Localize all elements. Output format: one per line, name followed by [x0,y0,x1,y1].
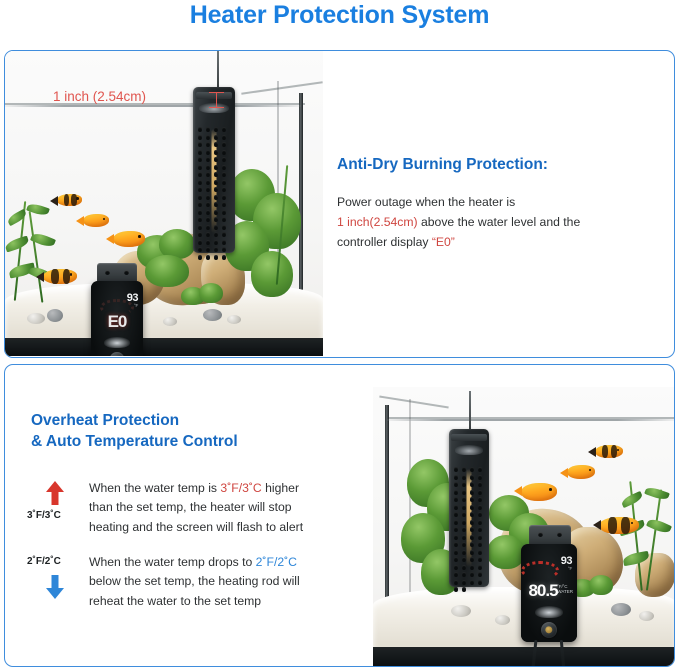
panel1-body-line-1: Power outage when the heater is [337,193,657,213]
bracket-hole [557,532,562,537]
heater-vent-slot [206,187,210,192]
tank-fish [599,517,639,534]
bracket-hole [105,270,110,275]
heater-rod [193,87,235,253]
heater-vent-slot [222,157,226,162]
fish-body [43,269,77,284]
heater-vent-slot [462,557,466,562]
panel1-body-line-3: controller display “E0” [337,233,657,253]
setpoint-unit: °F [561,567,572,572]
heater-vent-slot [222,150,226,155]
heater-vent-slot [214,180,218,185]
heater-vent-slot [454,587,458,592]
heater-vent-slot [214,150,218,155]
heater-vent-slot [454,505,458,510]
heater-vent-slot [462,580,466,585]
arrow-head [46,481,64,492]
tank-pebble [163,317,177,326]
down-arrow-label: 2˚F/2˚C [27,556,61,567]
plant-frond [646,489,662,590]
heater-vent-slot [478,550,482,555]
heater-vent-slot [462,467,466,472]
fish-stripe [611,445,617,458]
heater-vent-slot [214,172,218,177]
fish-body [595,445,623,458]
bullet-1-text: When the water temp is 3˚F/3˚C higher th… [89,479,369,537]
heater-vent-slot [478,535,482,540]
panel1-body-line-2-rest: above the water level and the [418,215,581,229]
bullet-2-line-3: reheat the water to the set temp [89,592,369,611]
heater-vent-slot [222,210,226,215]
controller-unit-label: ˚F/˚C WATER [557,584,573,594]
heater-vent-slot [206,165,210,170]
heater-vent-slot [214,135,218,140]
heater-vent-slot [222,142,226,147]
heater-logo [199,103,229,113]
heater-vent-slot [222,217,226,222]
fish-stripe [71,194,77,206]
bullet-1-line-1: When the water temp is 3˚F/3˚C higher [89,479,369,498]
heater-vent-slot [222,127,226,132]
plant-bush [487,535,525,569]
heater-vent-slot [470,512,474,517]
tank-plant-left [5,191,61,306]
tank-water-line [387,419,675,421]
heater-vent-slot [198,172,202,177]
heater-vent-slot [462,535,466,540]
heater-vent-slot [206,210,210,215]
heater-vent-slot [214,165,218,170]
tank-fish [113,231,145,247]
measurement-line [216,92,217,108]
heater-vent-slot [198,157,202,162]
heater-vent-slot [222,255,226,260]
heater-vent-slot [198,217,202,222]
tank-fish [567,465,595,479]
heater-vent-slot [222,165,226,170]
plant-bush [251,251,293,297]
panel1-error-code-highlight: “E0” [432,235,455,249]
heater-vent-slot [222,172,226,177]
fish-tail [560,468,568,478]
plant-bush [589,575,613,595]
heater-vent-slot [478,557,482,562]
controller-brand-logo [535,606,563,618]
heater-vent-slot [198,165,202,170]
tank-pebble [451,605,471,617]
fish-body [599,517,639,534]
heater-vent-slot [206,195,210,200]
heater-vent-slot [222,202,226,207]
arrow-head [46,588,64,599]
heater-vent-slot [198,240,202,245]
plant-leaf [644,485,670,502]
heater-vent-slot [470,557,474,562]
heater-vent-slot [222,195,226,200]
tank-plant-right [619,475,675,601]
heater-power-cord [217,51,219,87]
heater-vent-slot [214,240,218,245]
fish-stripe [621,517,630,534]
heater-vent-slot [214,217,218,222]
heater-vent-slot [454,535,458,540]
heater-vent-slot [454,467,458,472]
heater-vent-slot [454,527,458,532]
heater-vent-slot [198,150,202,155]
fish-stripe [51,269,58,284]
heater-vent-slot [462,512,466,517]
heater-vent-slot [206,217,210,222]
tank-pebble [227,315,241,324]
plant-leaf [6,209,28,226]
heater-vent-slot [478,520,482,525]
fish-stripe [63,269,70,284]
heater-vent-slot [478,527,482,532]
controller-knob[interactable] [541,622,557,638]
heater-vent-slot [470,505,474,510]
panel2-heading: Overheat Protection & Auto Temperature C… [31,411,238,453]
heater-vent-slot [470,497,474,502]
heater-vent-slot [470,475,474,480]
infographic-page: Heater Protection System [0,0,679,670]
heater-vent-slot [454,542,458,547]
bracket-hole [124,270,129,275]
tank-fish [595,445,623,458]
heater-vent-slot [206,202,210,207]
heater-vent-slot [206,172,210,177]
heater-vent-slot [206,135,210,140]
panel-anti-dry-burning: 93 °F E0 1 inch (2.54cm) Anti-Dry Burnin… [4,50,675,358]
panel1-heading: Anti-Dry Burning Protection: [337,155,548,176]
heater-vent-slot [470,520,474,525]
plant-leaf [5,236,30,253]
controller-setpoint-badge: 93 °F [127,293,138,309]
fish-eye [549,488,552,491]
tank-plant-foreground [181,283,225,309]
heater-vent-slot [198,142,202,147]
controller-unit-line-2: WATER [557,589,573,594]
up-arrow-label: 3˚F/3˚C [27,510,61,521]
heater-vent-slot [478,565,482,570]
heater-vent-slot [214,157,218,162]
controller-setpoint-badge: 93 °F [561,556,572,572]
heater-vent-slot [222,247,226,252]
heater-vent-slot [198,225,202,230]
bullet-1-threshold: 3˚F/3˚C [220,481,261,495]
controller-heat-arc [521,561,559,580]
panel1-measurement-highlight: 1 inch(2.54cm) [337,215,418,229]
heater-vent-slot [470,535,474,540]
tank-pebble [639,611,654,621]
heater-vent-slot [478,490,482,495]
heater-vent-slot [462,587,466,592]
fish-stripe [64,194,70,206]
heater-vent-slot [462,475,466,480]
heater-vent-slot [470,482,474,487]
heater-vent-slot [222,135,226,140]
tank-fish [43,269,77,284]
heater-vent-slot [470,490,474,495]
heater-vent-slot [214,202,218,207]
up-arrow-red-icon [45,481,65,505]
heater-vent-slot [198,180,202,185]
knob-center [545,626,552,633]
heater-vent-slot [462,505,466,510]
heater-vent-slot [470,572,474,577]
heater-vent-slot [470,565,474,570]
heater-vent-slot [462,565,466,570]
tank-pebble [27,313,45,324]
bullet-2-threshold: 2˚F/2˚C [256,555,297,569]
tank-pebble [495,615,510,625]
heater-vent-slot [214,187,218,192]
tank-fish [521,483,557,501]
fish-tail [76,216,84,226]
heater-vent-slot [214,247,218,252]
heater-vent-slot [462,482,466,487]
heater-vent-slot [214,210,218,215]
heater-vent-slot [462,550,466,555]
fish-tail [514,486,522,496]
heater-vent-slot [462,497,466,502]
heater-vent-slot [462,542,466,547]
heater-vent-slot [206,180,210,185]
tank-pebble [47,309,63,322]
heater-rod [449,429,489,587]
tank-plant-right [223,159,303,309]
heater-cap [451,434,486,441]
heater-vent-slot [198,127,202,132]
heater-vent-slot [478,512,482,517]
heater-vent-slot [470,542,474,547]
plant-leaf [646,517,672,536]
heater-vent-slot [206,247,210,252]
down-arrow-blue-icon [45,575,65,599]
heater-vent-slot [198,247,202,252]
fish-tail [50,196,58,206]
heater-vent-slot [198,232,202,237]
heater-vent-slot [454,565,458,570]
heater-vent-slot [462,490,466,495]
heater-vent-slot [454,520,458,525]
bullet-1-line-1-post: higher [262,481,299,495]
measurement-label: 1 inch (2.54cm) [53,89,146,104]
arrow-shaft [52,575,59,588]
heater-vent-slot [478,505,482,510]
controller-brand-logo [104,337,130,348]
heater-logo [455,445,484,455]
heater-vent-slot [214,232,218,237]
bullet-2-line-1: When the water temp drops to 2˚F/2˚C [89,553,369,572]
heater-vent-slot [206,157,210,162]
heater-vent-slot [470,527,474,532]
heater-vent-slot [454,580,458,585]
heater-vent-slot [470,550,474,555]
heater-vent-slot [454,475,458,480]
heater-vent-slot [198,202,202,207]
heater-vent-slot [462,572,466,577]
heater-vent-slot [478,580,482,585]
page-title: Heater Protection System [0,1,679,30]
heater-vent-slot [206,127,210,132]
heater-vent-slot [454,490,458,495]
heater-vent-slot [206,225,210,230]
panel2-heading-line-1: Overheat Protection [31,411,238,432]
panel-overheat-protection: Overheat Protection & Auto Temperature C… [4,364,675,667]
heater-vent-slot [478,482,482,487]
heater-vent-slot [454,557,458,562]
tank-pebble [611,603,631,616]
heater-vent-slot [462,527,466,532]
bullet-1-line-3: heating and the screen will flash to ale… [89,518,369,537]
heater-vent-slot [206,150,210,155]
aquarium-scene-1: 93 °F E0 1 inch (2.54cm) [5,51,323,356]
fish-eye [138,235,141,238]
heater-vent-slot [198,195,202,200]
heater-vent-slot [198,255,202,260]
heater-vent-slot [222,180,226,185]
heater-vent-slot [478,467,482,472]
measurement-bottom-cap [209,107,224,108]
heater-vent-slot [478,497,482,502]
heater-vent-slot [454,497,458,502]
heater-vent-slot [454,550,458,555]
heater-vent-slot [206,255,210,260]
heater-vent-slot [478,542,482,547]
heater-vent-slot [198,135,202,140]
bullet-2-text: When the water temp drops to 2˚F/2˚C bel… [89,553,369,611]
heater-vent-slot [454,482,458,487]
fish-tail [106,234,114,244]
heater-vent-slot [214,142,218,147]
fish-tail [588,447,596,457]
heater-vent-slot [214,255,218,260]
bracket-hole [538,532,543,537]
plant-leaf [622,551,650,566]
fish-body [83,214,109,227]
controller-display-2[interactable]: 93 °F 80.5 ˚F/˚C WATER [521,544,577,642]
fish-stripe [608,517,617,534]
bullet-1-line-1-pre: When the water temp is [89,481,220,495]
panel2-heading-line-2: & Auto Temperature Control [31,432,238,453]
bullet-2-line-1-pre: When the water temp drops to [89,555,256,569]
fish-body [521,483,557,501]
heater-vent-slot [206,240,210,245]
heater-vent-grill [454,467,484,573]
heater-vent-slot [214,127,218,132]
heater-vent-slot [214,195,218,200]
bullet-1-line-2: than the set temp, the heater will stop [89,498,369,517]
fish-body [113,231,145,247]
tank-fish [57,194,82,206]
fish-tail [593,520,601,530]
setpoint-unit: °F [127,304,138,309]
tank-pebble [203,309,222,321]
arrow-shaft [52,492,59,505]
heater-vent-slot [470,580,474,585]
heater-vent-slot [454,572,458,577]
fish-body [567,465,595,479]
tank-fish [83,214,109,227]
panel1-body-line-2: 1 inch(2.54cm) above the water level and… [337,213,657,233]
controller-display-1[interactable]: 93 °F E0 [91,281,143,356]
heater-vent-slot [478,572,482,577]
heater-vent-slot [478,475,482,480]
aquarium-scene-2: 93 °F 80.5 ˚F/˚C WATER [373,387,675,667]
heater-cap [196,92,233,99]
tank-water-line [5,105,301,107]
heater-vent-slot [222,240,226,245]
plant-frond [29,211,44,302]
heater-vent-slot [198,210,202,215]
panel1-body: Power outage when the heater is 1 inch(2… [337,193,657,252]
heater-vent-slot [222,225,226,230]
panel1-body-line-3-pre: controller display [337,235,432,249]
fish-tail [36,272,44,282]
fish-eye [76,197,79,200]
bullet-2-line-2: below the set temp, the heating rod will [89,572,369,591]
heater-vent-slot [470,467,474,472]
fish-eye [70,273,73,276]
controller-main-reading: E0 [91,313,143,330]
heater-vent-slot [206,232,210,237]
plant-bush [199,283,223,303]
heater-vent-slot [222,187,226,192]
heater-vent-slot [454,512,458,517]
heater-power-cord [469,391,471,429]
heater-vent-slot [206,142,210,147]
fish-stripe [602,445,608,458]
fish-body [57,194,82,206]
heater-vent-slot [222,232,226,237]
heater-vent-slot [198,187,202,192]
heater-vent-slot [462,520,466,525]
heater-vent-slot [214,225,218,230]
heater-vent-grill [198,127,230,237]
